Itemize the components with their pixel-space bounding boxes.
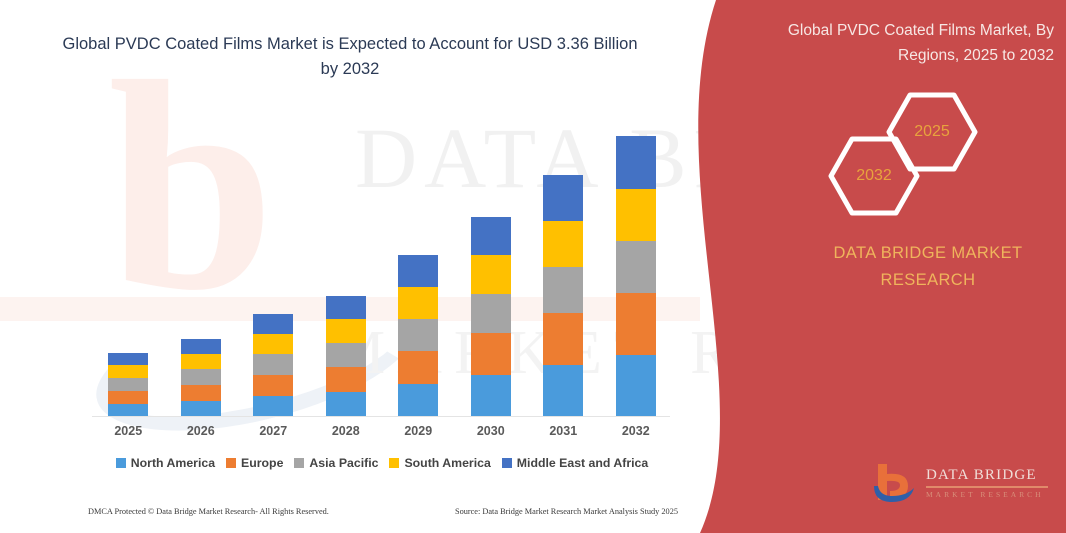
x-axis-tick-label: 2027 — [243, 424, 303, 438]
legend-item[interactable]: North America — [116, 456, 215, 470]
bar-segment — [108, 353, 148, 365]
legend-swatch-icon — [502, 458, 512, 468]
bar-column — [471, 217, 511, 417]
x-axis-tick-label: 2025 — [98, 424, 158, 438]
legend-swatch-icon — [294, 458, 304, 468]
bar-segment — [616, 136, 656, 189]
legend-item[interactable]: Middle East and Africa — [502, 456, 648, 470]
bar-segment — [326, 319, 366, 343]
chart-pane: Global PVDC Coated Films Market is Expec… — [0, 0, 700, 533]
legend-item[interactable]: South America — [389, 456, 490, 470]
x-axis-tick-label: 2030 — [461, 424, 521, 438]
logo-main-text: DATA BRIDGE — [926, 467, 1048, 484]
bar-column — [326, 296, 366, 417]
bar-segment — [253, 396, 293, 417]
x-axis-tick-label: 2026 — [171, 424, 231, 438]
bar-segment — [471, 217, 511, 255]
legend-swatch-icon — [389, 458, 399, 468]
bar-segment — [471, 375, 511, 417]
right-panel-title: Global PVDC Coated Films Market, By Regi… — [742, 18, 1054, 68]
x-axis-tick-label: 2032 — [606, 424, 666, 438]
legend-swatch-icon — [116, 458, 126, 468]
x-axis-labels: 20252026202720282029203020312032 — [92, 424, 672, 448]
legend-item[interactable]: Europe — [226, 456, 283, 470]
infographic-canvas: b DATA BRIDGE MARKET RESEARCH Global PVD… — [0, 0, 1066, 533]
bar-segment — [543, 267, 583, 313]
bar-segment — [398, 384, 438, 417]
bar-segment — [181, 369, 221, 385]
bar-segment — [616, 241, 656, 293]
logo-wordmark: DATA BRIDGE MARKET RESEARCH — [926, 467, 1048, 499]
bar-segment — [471, 333, 511, 375]
bar-segment — [108, 391, 148, 404]
bar-segment — [181, 385, 221, 401]
bar-segment — [616, 189, 656, 241]
brand-line-2: RESEARCH — [790, 267, 1066, 294]
bar-segment — [398, 287, 438, 319]
bar-segment — [253, 334, 293, 354]
legend-swatch-icon — [226, 458, 236, 468]
bar-segment — [543, 175, 583, 221]
footer-source: Source: Data Bridge Market Research Mark… — [455, 507, 678, 516]
hexagon-label-2025: 2025 — [886, 92, 978, 172]
bar-segment — [616, 355, 656, 417]
bar-segment — [181, 354, 221, 369]
bar-segment — [543, 221, 583, 267]
legend-label: Asia Pacific — [309, 456, 378, 470]
legend-item[interactable]: Asia Pacific — [294, 456, 378, 470]
bar-segment — [398, 319, 438, 351]
bar-segment — [108, 378, 148, 391]
hexagon-badges: 2032 2025 — [820, 92, 990, 210]
footer: DMCA Protected © Data Bridge Market Rese… — [88, 507, 678, 516]
bar-segment — [326, 343, 366, 367]
x-axis-tick-label: 2028 — [316, 424, 376, 438]
bar-segment — [326, 367, 366, 392]
bar-segment — [398, 255, 438, 287]
bar-segment — [616, 293, 656, 355]
bar-segment — [108, 365, 148, 378]
stacked-bar-chart — [92, 110, 672, 417]
bar-segment — [471, 255, 511, 294]
bar-segment — [253, 375, 293, 396]
bar-segment — [326, 296, 366, 319]
page-title: Global PVDC Coated Films Market is Expec… — [60, 32, 640, 82]
x-axis-tick-label: 2029 — [388, 424, 448, 438]
brand-name: DATA BRIDGE MARKET RESEARCH — [790, 240, 1066, 294]
x-axis-tick-label: 2031 — [533, 424, 593, 438]
bar-column — [253, 314, 293, 417]
chart-legend: North AmericaEuropeAsia PacificSouth Ame… — [92, 456, 672, 470]
chart-baseline — [92, 416, 670, 417]
legend-label: Europe — [241, 456, 283, 470]
legend-label: Middle East and Africa — [517, 456, 648, 470]
hexagon-badge-2025: 2025 — [886, 92, 978, 172]
company-logo: DATA BRIDGE MARKET RESEARCH — [872, 462, 1052, 508]
logo-sub-text: MARKET RESEARCH — [926, 490, 1048, 499]
bar-segment — [181, 339, 221, 354]
data-bridge-logo-icon — [872, 462, 920, 508]
bar-column — [543, 175, 583, 417]
bar-column — [108, 353, 148, 417]
legend-label: North America — [131, 456, 215, 470]
bar-segment — [253, 314, 293, 334]
bar-column — [398, 255, 438, 417]
brand-line-1: DATA BRIDGE MARKET — [790, 240, 1066, 267]
legend-label: South America — [404, 456, 490, 470]
bar-segment — [181, 401, 221, 417]
bar-segment — [543, 365, 583, 417]
footer-copyright: DMCA Protected © Data Bridge Market Rese… — [88, 507, 329, 516]
logo-divider — [926, 486, 1048, 488]
bar-column — [181, 339, 221, 417]
bar-segment — [471, 294, 511, 333]
bar-segment — [543, 313, 583, 365]
bar-column — [616, 136, 656, 417]
bar-segment — [398, 351, 438, 384]
bar-segment — [326, 392, 366, 417]
bar-segment — [253, 354, 293, 375]
